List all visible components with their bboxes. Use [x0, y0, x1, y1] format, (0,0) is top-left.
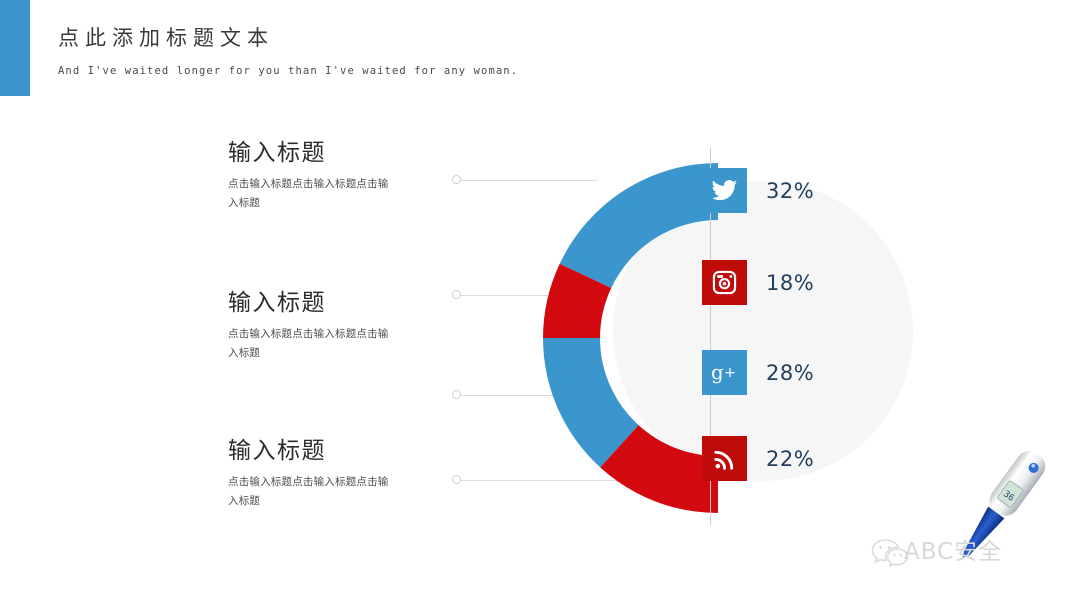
info-block-description: 点击输入标题点击输入标题点击输入标题: [228, 175, 393, 212]
legend-item-instagram[interactable]: 18%: [702, 260, 814, 305]
instagram-icon: [702, 260, 747, 305]
legend-value: 22%: [766, 447, 814, 471]
svg-text:g: g: [710, 361, 723, 384]
info-block-title: 输入标题: [228, 290, 438, 316]
legend-item-twitter[interactable]: 32%: [702, 168, 814, 213]
connector-dot: [452, 175, 461, 184]
google-plus-icon: g +: [702, 350, 747, 395]
donut-chart: 32% 18% g + 28%: [535, 145, 895, 530]
connector-dot: [452, 290, 461, 299]
info-block-2: 输入标题 点击输入标题点击输入标题点击输入标题: [228, 290, 438, 362]
info-block-title: 输入标题: [228, 140, 438, 166]
legend-value: 18%: [766, 271, 814, 295]
info-block-1: 输入标题 点击输入标题点击输入标题点击输入标题: [228, 140, 438, 212]
slide-canvas: 点此添加标题文本 And I've waited longer for you …: [0, 0, 1080, 608]
legend-value: 28%: [766, 361, 814, 385]
info-block-3: 输入标题 点击输入标题点击输入标题点击输入标题: [228, 438, 438, 510]
header: 点此添加标题文本 And I've waited longer for you …: [58, 26, 658, 77]
connector-dot: [452, 390, 461, 399]
watermark: 36 ABC安全: [862, 436, 1072, 604]
info-block-title: 输入标题: [228, 438, 438, 464]
legend-item-rss[interactable]: 22%: [702, 436, 814, 481]
rss-icon: [702, 436, 747, 481]
page-subtitle: And I've waited longer for you than I've…: [58, 65, 658, 77]
info-block-description: 点击输入标题点击输入标题点击输入标题: [228, 325, 393, 362]
info-block-description: 点击输入标题点击输入标题点击输入标题: [228, 473, 393, 510]
legend-value: 32%: [766, 179, 814, 203]
watermark-text: ABC安全: [904, 532, 1002, 566]
twitter-icon: [702, 168, 747, 213]
legend-item-google-plus[interactable]: g + 28%: [702, 350, 814, 395]
page-title: 点此添加标题文本: [58, 26, 658, 51]
connector-dot: [452, 475, 461, 484]
svg-text:+: +: [724, 365, 736, 381]
header-accent-bar: [0, 0, 30, 96]
donut-slice-twitter: [560, 163, 718, 288]
